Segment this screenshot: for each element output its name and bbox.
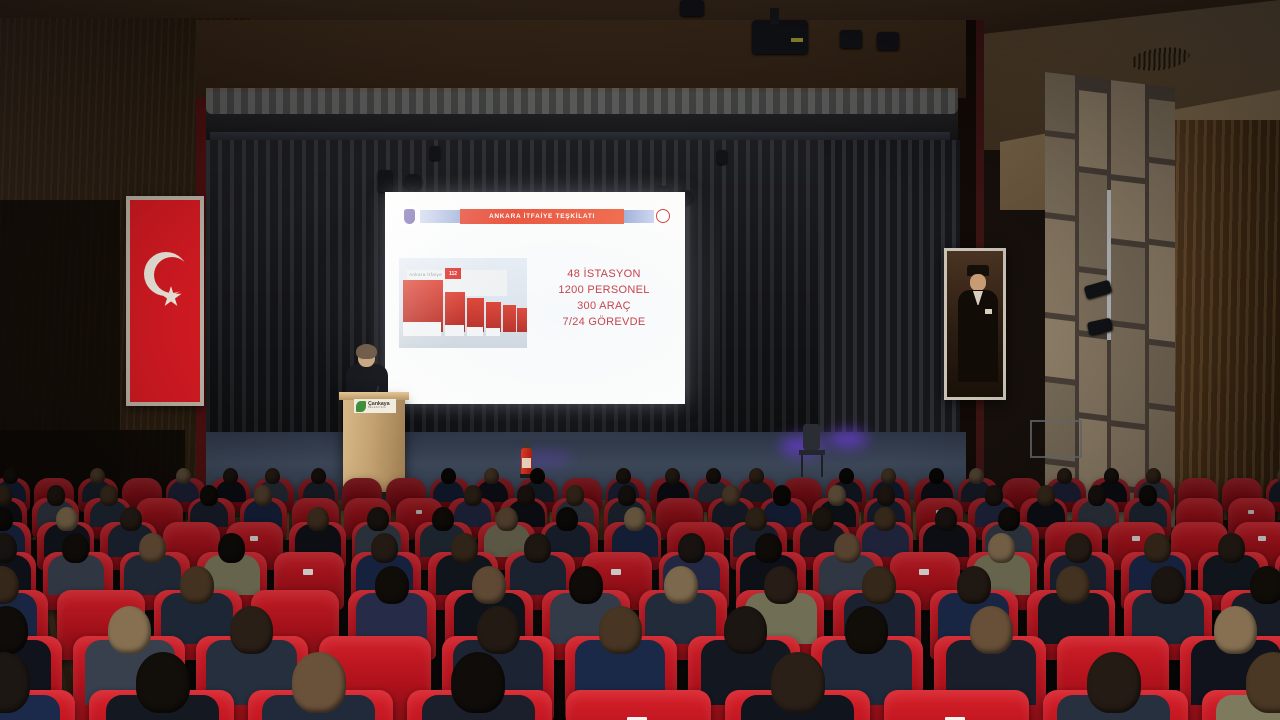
audience-member-head bbox=[136, 652, 190, 712]
audience-member-head bbox=[517, 485, 535, 505]
audience-member-head bbox=[935, 507, 957, 532]
podium-brand-text: Çankaya BELEDİYESİ bbox=[368, 402, 389, 410]
audience-member-head bbox=[1151, 566, 1185, 604]
audience-member-head bbox=[292, 652, 346, 712]
audience-member-head bbox=[1146, 468, 1161, 485]
audience-member-head bbox=[432, 507, 454, 532]
audience-member-head bbox=[441, 468, 456, 485]
projector-icon bbox=[752, 20, 808, 54]
audience-member-head bbox=[877, 485, 895, 505]
audience-member-head bbox=[100, 485, 118, 505]
audience-member-head bbox=[1088, 485, 1106, 505]
audience-member-head bbox=[311, 468, 326, 485]
stage-uplight-2 bbox=[828, 430, 868, 448]
audience-member-head bbox=[230, 606, 273, 654]
audience-member-head bbox=[771, 652, 825, 712]
audience-member-head bbox=[62, 533, 89, 563]
audience-member-head bbox=[969, 468, 984, 485]
audience-member-head bbox=[569, 566, 603, 604]
turkish-flag-banner bbox=[126, 196, 204, 406]
audience-member-head bbox=[3, 468, 18, 485]
ceiling-light-icon-3 bbox=[877, 32, 899, 50]
acoustic-panel bbox=[1045, 72, 1075, 134]
acoustic-panel bbox=[1111, 80, 1145, 178]
acoustic-panel bbox=[1045, 136, 1075, 216]
seat-number-tag bbox=[919, 569, 929, 574]
seat-number-tag bbox=[1258, 536, 1266, 540]
acoustic-panel bbox=[1079, 90, 1107, 169]
fire-extinguisher-label bbox=[522, 458, 531, 468]
audience-member-head bbox=[477, 606, 520, 654]
audience-member-head bbox=[180, 566, 214, 604]
audience-member-head bbox=[556, 507, 578, 532]
audience-member-head bbox=[929, 468, 944, 485]
audience-member-head bbox=[307, 507, 329, 532]
audience-member-head bbox=[375, 566, 409, 604]
audience-member-head bbox=[957, 566, 991, 604]
audience-member-head bbox=[764, 566, 798, 604]
audience-member-head bbox=[1139, 485, 1157, 505]
audience-seat[interactable] bbox=[566, 690, 711, 720]
audience-member-head bbox=[745, 507, 767, 532]
audience-member-head bbox=[254, 485, 272, 505]
ataturk-portrait bbox=[947, 251, 1003, 397]
seat-number-tag bbox=[1248, 510, 1255, 514]
audience-member-head bbox=[496, 507, 518, 532]
podium-subbrand: BELEDİYESİ bbox=[368, 407, 389, 410]
acoustic-panel bbox=[1079, 172, 1107, 269]
audience-member-head bbox=[624, 507, 646, 532]
audience-member-head bbox=[834, 533, 861, 563]
audience-member-head bbox=[56, 507, 78, 532]
audience-member-head bbox=[371, 533, 398, 563]
stage-valance-frill bbox=[206, 88, 958, 114]
stage-chair bbox=[803, 424, 820, 450]
audience-member-head bbox=[616, 468, 631, 485]
audience-member-head bbox=[988, 533, 1015, 563]
audience-member-head bbox=[724, 606, 767, 654]
seat-number-tag bbox=[416, 510, 423, 514]
audience-member-head bbox=[998, 507, 1020, 532]
flag-field bbox=[130, 200, 200, 402]
audience-member-head bbox=[722, 485, 740, 505]
audience-member-head bbox=[451, 652, 505, 712]
seat-number-tag bbox=[303, 569, 313, 574]
audience-member-head bbox=[223, 468, 238, 485]
audience-member-head bbox=[367, 507, 389, 532]
audience-member-head bbox=[749, 468, 764, 485]
audience-member-head bbox=[862, 566, 896, 604]
audience-member-head bbox=[1104, 468, 1119, 485]
audience-member-head bbox=[530, 468, 545, 485]
acoustic-panel bbox=[1149, 245, 1175, 342]
audience-member-head bbox=[139, 533, 166, 563]
podium-logo-plate: Çankaya BELEDİYESİ bbox=[354, 399, 396, 413]
acoustic-panel bbox=[1111, 326, 1145, 424]
acoustic-panel bbox=[1111, 180, 1145, 242]
audience-member-head bbox=[524, 533, 551, 563]
audience-member-head bbox=[472, 566, 506, 604]
ceiling-light-icon-2 bbox=[840, 30, 862, 48]
stage-chair-leg-1 bbox=[801, 455, 803, 477]
audience-seat[interactable] bbox=[884, 690, 1029, 720]
ceiling-light-icon-1 bbox=[680, 0, 704, 16]
projector-mount bbox=[770, 8, 779, 24]
audience-member-head bbox=[874, 507, 896, 532]
audience-member-head bbox=[200, 485, 218, 505]
audience-member-head bbox=[970, 606, 1013, 654]
stage-chair-leg-2 bbox=[821, 455, 823, 477]
audience-member-head bbox=[812, 507, 834, 532]
audience-member-head bbox=[828, 485, 846, 505]
audience-member-head bbox=[1057, 468, 1072, 485]
audience-member-head bbox=[1065, 533, 1092, 563]
audience-member-head bbox=[176, 468, 191, 485]
acoustic-panel bbox=[1079, 336, 1107, 415]
ataturk-portrait-frame bbox=[944, 248, 1006, 400]
acoustic-panel bbox=[1149, 163, 1175, 242]
seat-number-tag bbox=[1132, 536, 1140, 540]
audience-member-head bbox=[985, 485, 1003, 505]
speaker-hair bbox=[356, 344, 377, 359]
audience-member-head bbox=[1056, 566, 1090, 604]
audience-member-head bbox=[773, 485, 791, 505]
audience-member-head bbox=[120, 507, 142, 532]
audience-member-head bbox=[599, 606, 642, 654]
audience-member-head bbox=[618, 485, 636, 505]
equipment-cart bbox=[1030, 420, 1082, 458]
audience-member-head bbox=[881, 468, 896, 485]
acoustic-panel bbox=[1045, 218, 1075, 316]
seat-number-tag bbox=[611, 569, 621, 574]
screen-glare bbox=[385, 192, 685, 404]
audience-member-head bbox=[47, 485, 65, 505]
stage-curtain-right bbox=[820, 140, 960, 470]
projector-indicator bbox=[791, 38, 803, 42]
stage-light-icon-5 bbox=[430, 146, 440, 160]
acoustic-panel bbox=[1149, 345, 1175, 406]
portrait-pocket-square bbox=[985, 309, 992, 314]
seat-number-tag bbox=[250, 536, 258, 540]
stage-light-icon-6 bbox=[717, 150, 727, 164]
audience-member-head bbox=[664, 566, 698, 604]
portrait-face bbox=[970, 274, 986, 291]
audience-member-head bbox=[678, 533, 705, 563]
audience-member-head bbox=[90, 468, 105, 485]
audience-member-head bbox=[1250, 566, 1280, 604]
audience-member-head bbox=[706, 468, 721, 485]
acoustic-panel bbox=[1045, 318, 1075, 380]
auditorium-scene: ANKARA İTFAİYE TEŞKİLATI Ankara İtfaiye … bbox=[0, 0, 1280, 720]
audience-member-head bbox=[464, 485, 482, 505]
acoustic-panel bbox=[1111, 244, 1145, 324]
audience-member-head bbox=[1218, 533, 1245, 563]
leaf-icon bbox=[356, 401, 366, 412]
audience-member-head bbox=[755, 533, 782, 563]
acoustic-panel bbox=[1149, 99, 1175, 160]
audience-member-head bbox=[1037, 485, 1055, 505]
audience-member-head bbox=[451, 533, 478, 563]
audience-member-head bbox=[1214, 606, 1257, 654]
crescent-inner bbox=[154, 257, 190, 293]
audience-member-head bbox=[484, 468, 499, 485]
audience-member-head bbox=[265, 468, 280, 485]
audience-member-head bbox=[1144, 533, 1171, 563]
audience-member-head bbox=[218, 533, 245, 563]
audience-member-head bbox=[839, 468, 854, 485]
audience-member-head bbox=[845, 606, 888, 654]
audience-member-head bbox=[566, 485, 584, 505]
audience-member-head bbox=[108, 606, 151, 654]
audience-member-head bbox=[1087, 652, 1141, 712]
audience-member-head bbox=[665, 468, 680, 485]
